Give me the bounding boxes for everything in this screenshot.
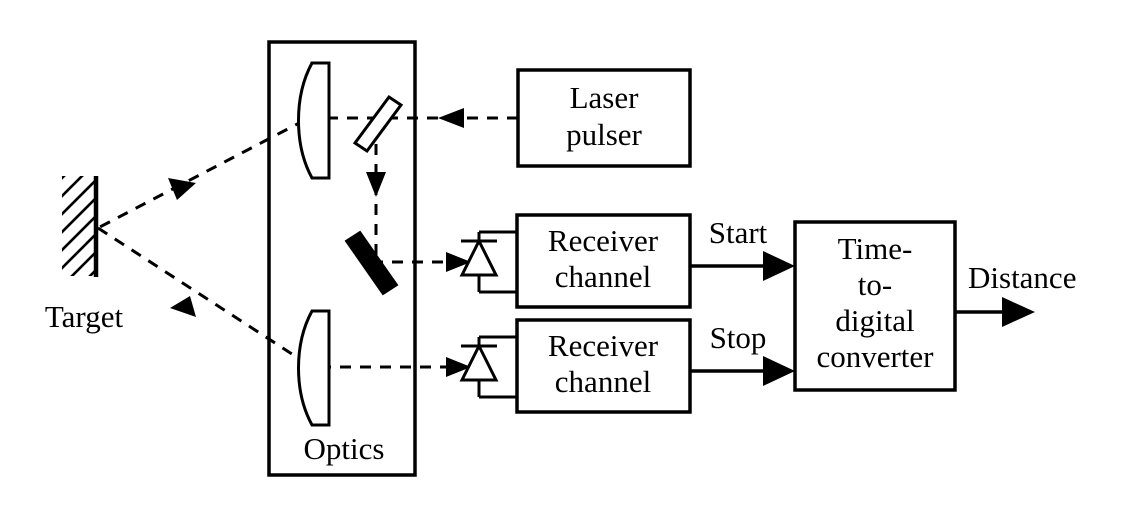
time-to-digital-converter-block[interactable]: Time- to- digital converter: [795, 222, 955, 390]
start-signal-group: Start: [690, 215, 795, 281]
target-label: Target: [45, 299, 124, 334]
diagram-canvas: Target Optics: [0, 0, 1123, 527]
tdc-label-line4: converter: [816, 339, 934, 374]
distance-output-label: Distance: [968, 260, 1076, 295]
start-signal-arrowhead-icon: [763, 251, 795, 281]
photodiode-start-group: [461, 232, 517, 292]
distance-output-group: Distance: [955, 260, 1076, 327]
target-group: Target: [40, 130, 123, 380]
beam-splitter-icon: [355, 97, 401, 151]
photodiode-stop-icon: [462, 346, 496, 380]
stop-signal-arrowhead-icon: [763, 356, 795, 386]
photodiode-stop-group: [461, 337, 517, 397]
splitter-down-arrowhead-icon: [366, 172, 386, 197]
receiver-channel-start-label-line1: Receiver: [548, 223, 659, 258]
tdc-label-line2: to-: [858, 267, 892, 302]
tdc-label-line1: Time-: [838, 231, 913, 266]
transmit-beam-to-target: [98, 120, 305, 228]
rangefinder-diagram: Target Optics: [0, 0, 1123, 527]
laser-pulser-label-line1: Laser: [570, 80, 640, 115]
photodiode-start-icon: [462, 241, 496, 275]
start-signal-label: Start: [709, 215, 768, 250]
receiver-channel-stop-block[interactable]: Receiver channel: [517, 320, 690, 412]
receiver-channel-start-block[interactable]: Receiver channel: [517, 215, 690, 307]
transmit-lens-body: [299, 63, 330, 178]
tdc-label-line3: digital: [835, 303, 914, 338]
receiver-channel-stop-label-line1: Receiver: [548, 328, 659, 363]
optics-label: Optics: [304, 431, 385, 466]
stop-signal-group: Stop: [690, 320, 795, 386]
receiver-channel-start-label-line2: channel: [555, 259, 651, 294]
laser-pulser-block[interactable]: Laser pulser: [518, 70, 690, 166]
receiver-channel-stop-label-line2: channel: [555, 364, 651, 399]
distance-output-arrowhead-icon: [1002, 297, 1035, 327]
target-hatching-icon: [40, 130, 110, 380]
fold-mirror-icon: [346, 232, 397, 294]
return-beam-arrowhead-icon: [170, 296, 196, 317]
laser-beam-arrowhead-icon: [438, 108, 464, 128]
return-beam-from-target: [98, 228, 312, 367]
stop-signal-label: Stop: [710, 320, 767, 355]
receive-lens-body: [299, 311, 330, 425]
laser-pulser-label-line2: pulser: [566, 117, 642, 152]
